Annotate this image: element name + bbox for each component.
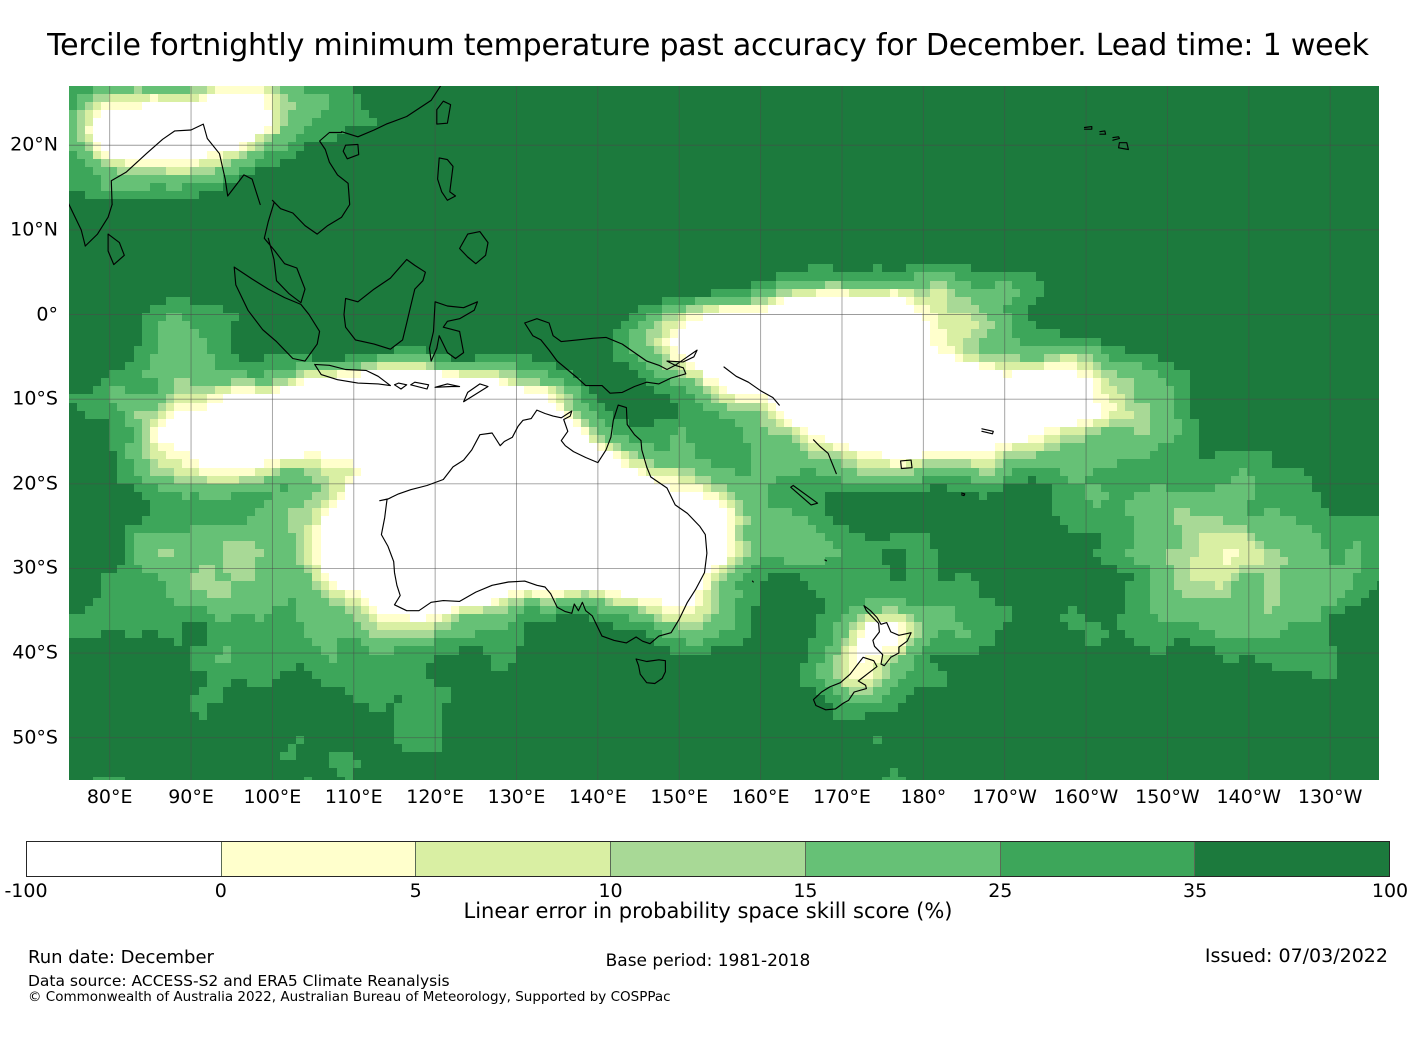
- xtick-label: 130°W: [1298, 788, 1363, 807]
- colorbar-segment: [222, 842, 417, 876]
- map-plot-area[interactable]: [69, 86, 1379, 780]
- xtick-label: 90°E: [168, 788, 214, 807]
- xtick-label: 170°E: [813, 788, 871, 807]
- xtick-label: 130°E: [488, 788, 546, 807]
- xtick-label: 150°E: [650, 788, 708, 807]
- xtick-label: 160°W: [1054, 788, 1119, 807]
- colorbar-segment: [611, 842, 806, 876]
- ytick-label: 20°S: [12, 474, 58, 493]
- ytick-label: 10°N: [10, 220, 58, 239]
- xtick-label: 140°W: [1217, 788, 1282, 807]
- xtick-label: 180°: [900, 788, 946, 807]
- xtick-label: 80°E: [87, 788, 133, 807]
- colorbar-segment: [27, 842, 222, 876]
- ytick-label: 30°S: [12, 559, 58, 578]
- ytick-label: 0°: [36, 305, 58, 324]
- colorbar-label: Linear error in probability space skill …: [0, 898, 1416, 924]
- xtick-label: 140°E: [569, 788, 627, 807]
- xtick-label: 170°W: [972, 788, 1037, 807]
- xtick-label: 100°E: [244, 788, 302, 807]
- footer-run-date: Run date: December: [28, 947, 214, 969]
- colorbar-segment: [806, 842, 1001, 876]
- colorbar-container: -1000510152535100: [26, 841, 1390, 877]
- xtick-label: 120°E: [406, 788, 464, 807]
- ytick-label: 10°S: [12, 390, 58, 409]
- footer-issued: Issued: 07/03/2022: [1205, 945, 1388, 967]
- footer-base-period: Base period: 1981-2018: [606, 950, 811, 972]
- xtick-label: 110°E: [325, 788, 383, 807]
- colorbar-segment: [1195, 842, 1389, 876]
- page-title: Tercile fortnightly minimum temperature …: [47, 26, 1369, 66]
- ytick-label: 40°S: [12, 644, 58, 663]
- ytick-label: 50°S: [12, 728, 58, 747]
- xtick-label: 150°W: [1135, 788, 1200, 807]
- colorbar[interactable]: [26, 841, 1390, 877]
- ytick-label: 20°N: [10, 136, 58, 155]
- footer-copyright: © Commonwealth of Australia 2022, Austra…: [28, 989, 671, 1006]
- colorbar-segment: [1001, 842, 1196, 876]
- xtick-label: 160°E: [732, 788, 790, 807]
- colorbar-segment: [416, 842, 611, 876]
- skill-score-heatmap: [69, 86, 1379, 780]
